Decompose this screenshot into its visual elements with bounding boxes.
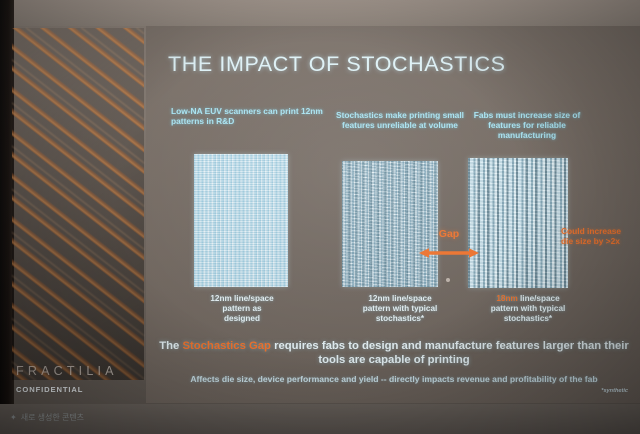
projector-glow [146,26,640,403]
photo-of-projected-slide: FRACTILIA CONFIDENTIAL THE IMPACT OF STO… [0,0,640,434]
stripe-shading-mask [12,28,144,380]
projected-slide: THE IMPACT OF STOCHASTICS Low-NA EUV sca… [146,26,640,403]
sparkle-icon: ✦ [10,413,17,422]
bottom-caption-bar [0,404,640,434]
fractilia-branding: FRACTILIA CONFIDENTIAL [16,364,136,394]
confidential-label: CONFIDENTIAL [16,385,136,394]
ceiling-strip [0,0,640,26]
generated-content-text: 새로 생성한 콘텐츠 [21,413,84,422]
generated-content-caption: ✦새로 생성한 콘텐츠 [10,412,84,423]
fractilia-logo-text: FRACTILIA [16,364,136,378]
